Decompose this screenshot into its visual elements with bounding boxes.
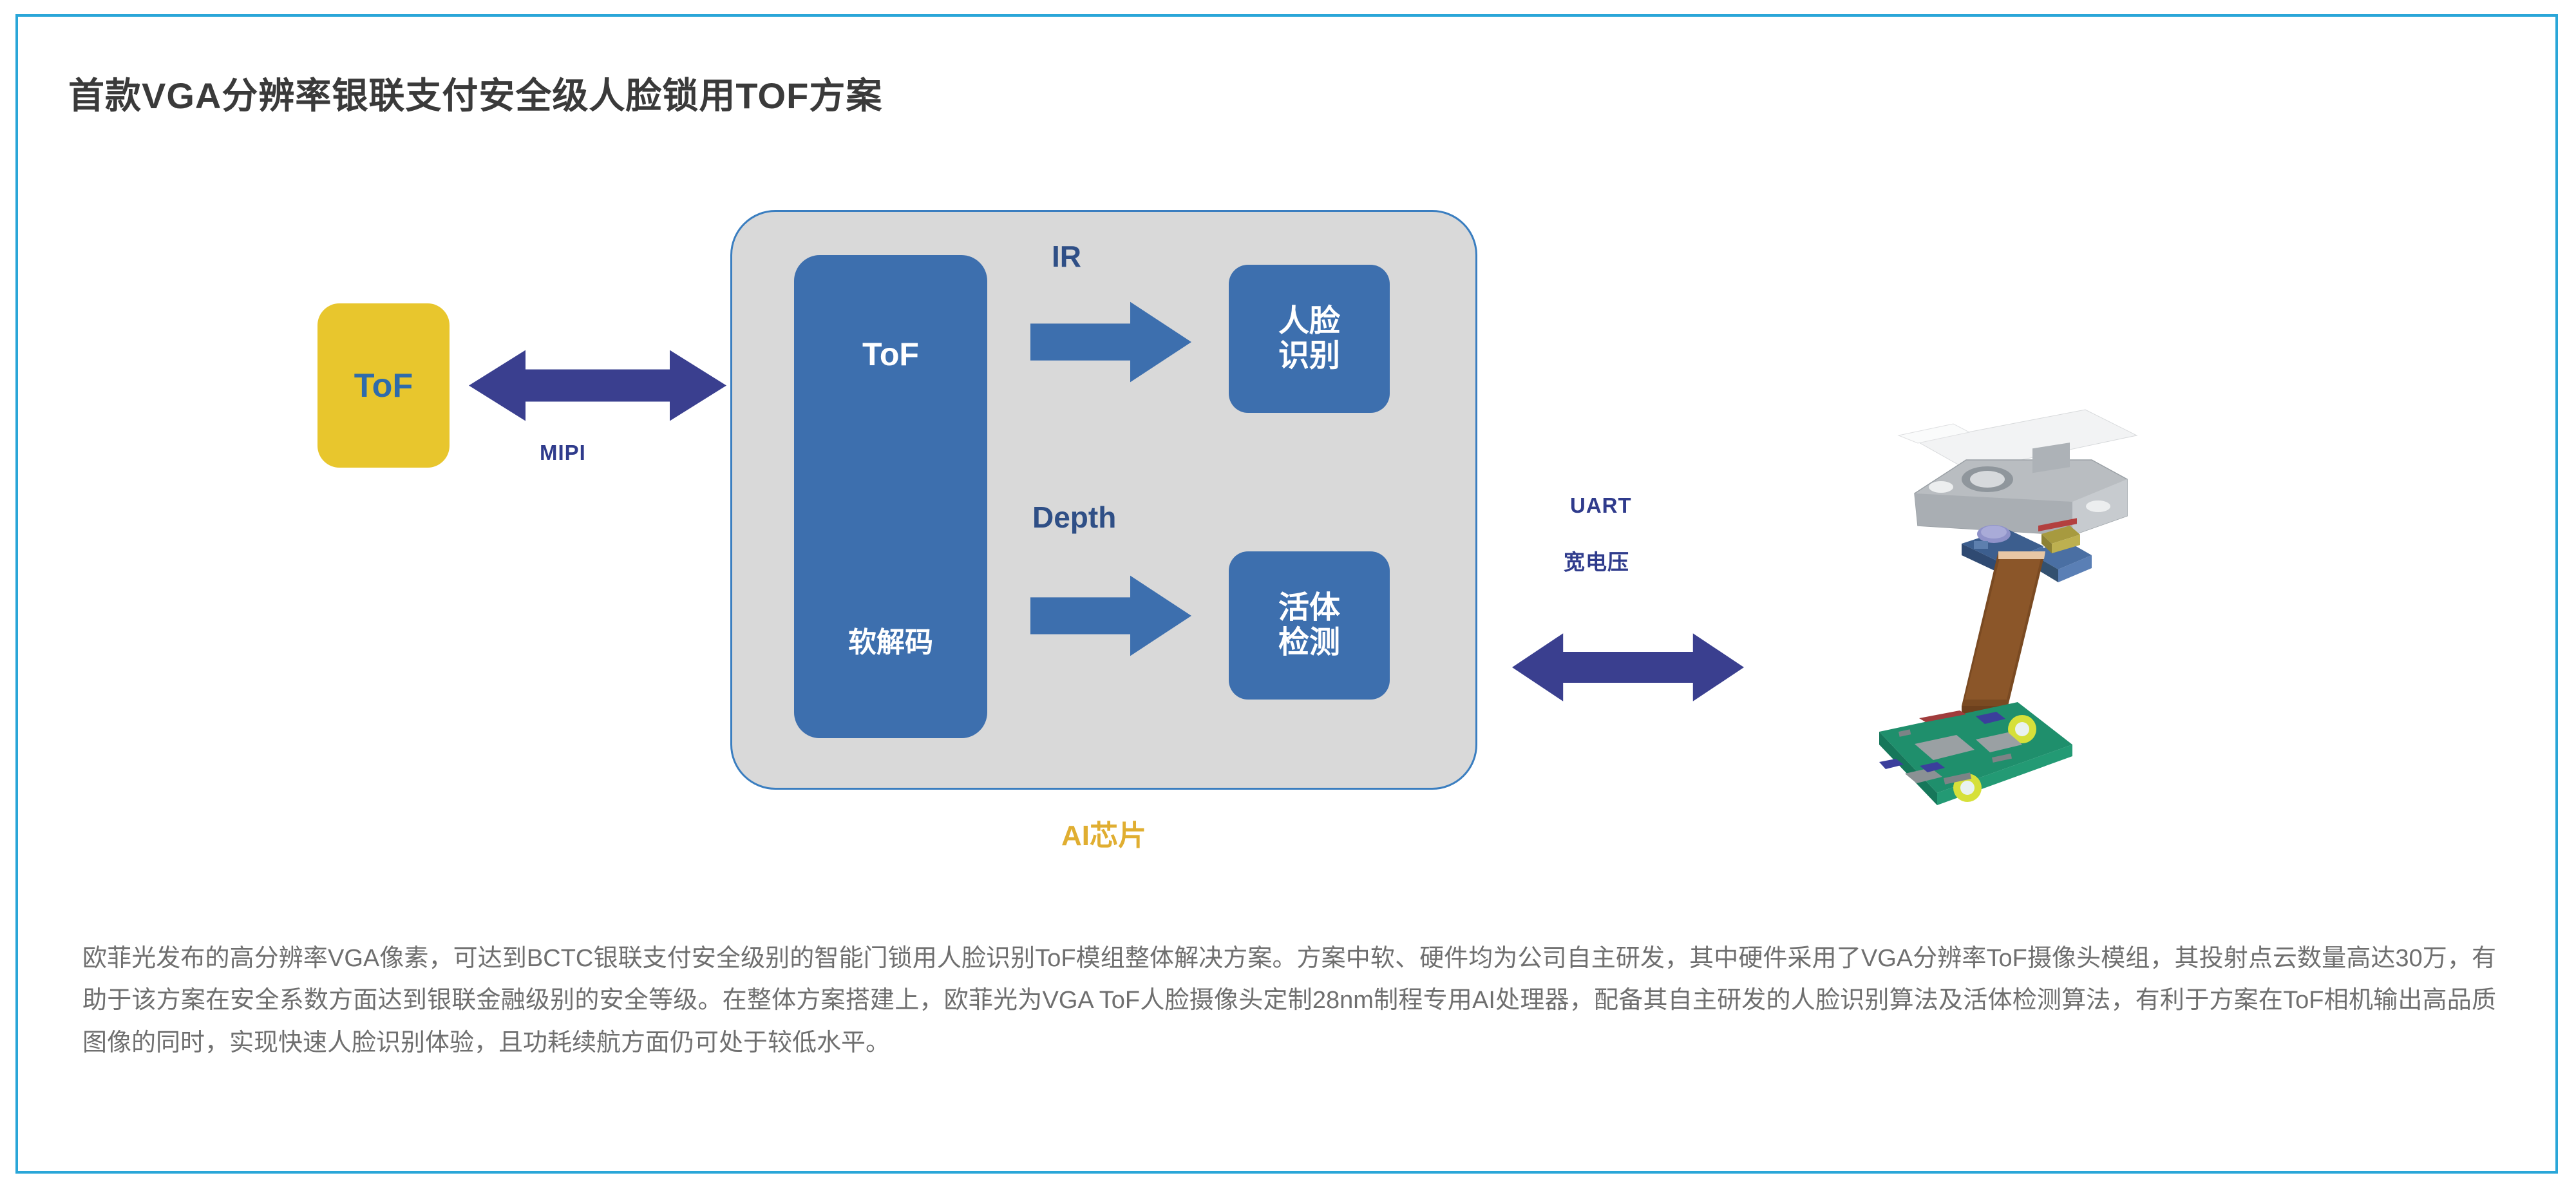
tof-sensor-block: ToF xyxy=(317,303,450,468)
liveness-detection-line1: 活体 xyxy=(1278,591,1340,625)
mipi-label: MIPI xyxy=(540,441,586,465)
mipi-bidirectional-arrow-icon xyxy=(469,345,726,426)
ir-signal-label: IR xyxy=(1052,239,1081,274)
depth-signal-label: Depth xyxy=(1032,500,1116,535)
architecture-diagram: ToF MIPI ToF 软解码 IR Depth 人脸 识别 活体 xyxy=(18,152,2555,925)
uart-label: UART xyxy=(1570,493,1632,518)
liveness-detection-line2: 检测 xyxy=(1278,625,1340,660)
tof-module-exploded-view-image xyxy=(1879,397,2343,925)
tof-decoder-subtitle: 软解码 xyxy=(794,619,987,660)
face-recognition-block: 人脸 识别 xyxy=(1229,265,1390,413)
tof-decoder-title: ToF xyxy=(794,336,987,373)
uart-bidirectional-arrow-icon xyxy=(1512,629,1744,706)
ai-chip-caption: AI芯片 xyxy=(730,812,1477,853)
face-recognition-line2: 识别 xyxy=(1278,339,1340,374)
tof-sensor-label: ToF xyxy=(354,367,413,405)
face-recognition-line1: 人脸 xyxy=(1278,304,1340,339)
slide-card: 首款VGA分辨率银联支付安全级人脸锁用TOF方案 ToF MIPI ToF 软解… xyxy=(15,14,2558,1174)
wide-voltage-label: 宽电压 xyxy=(1564,545,1629,576)
liveness-detection-block: 活体 检测 xyxy=(1229,551,1390,700)
description-paragraph: 欧菲光发布的高分辨率VGA像素，可达到BCTC银联支付安全级别的智能门锁用人脸识… xyxy=(18,938,2561,1064)
tof-decoder-block: ToF 软解码 xyxy=(794,255,987,738)
page-title: 首款VGA分辨率银联支付安全级人脸锁用TOF方案 xyxy=(68,67,882,119)
